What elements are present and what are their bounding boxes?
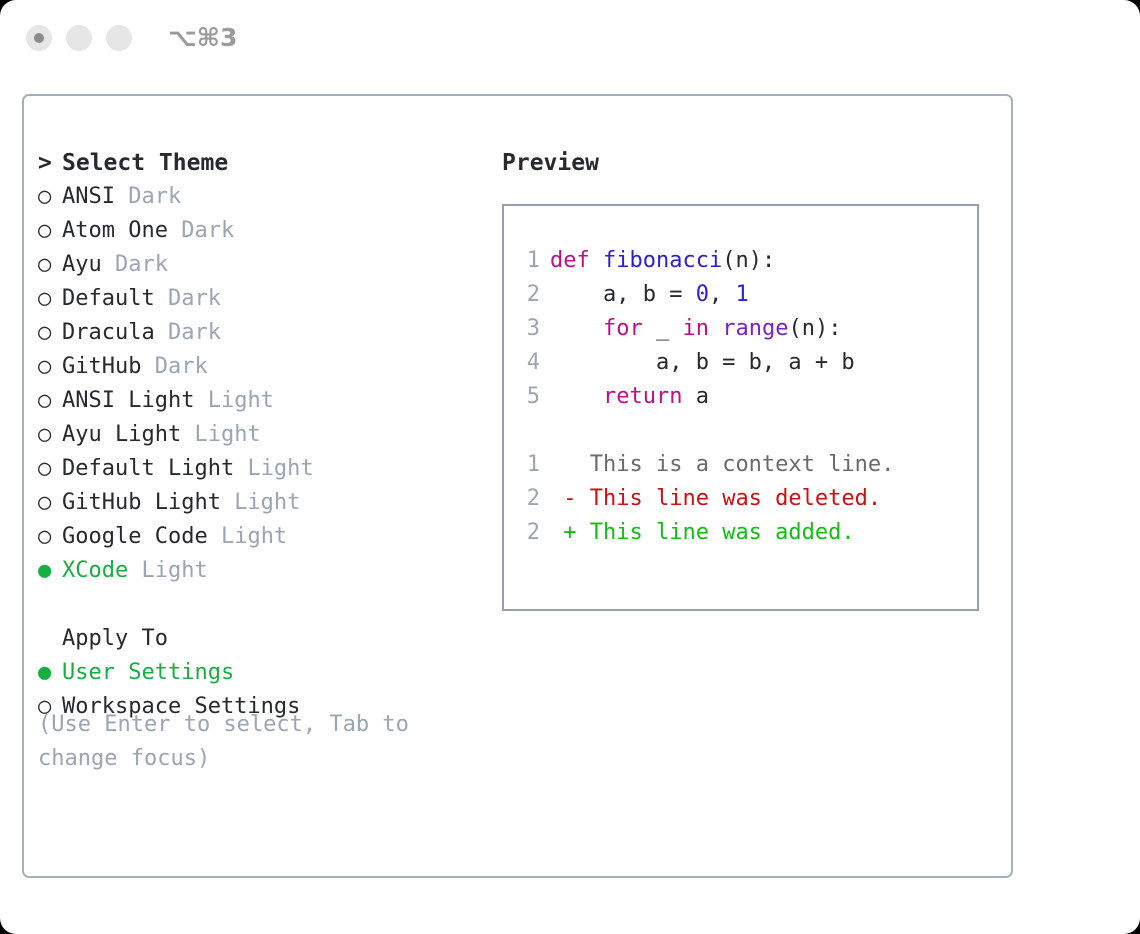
- theme-picker-panel: >Select Theme○ANSI Dark○Atom One Dark○Ay…: [22, 94, 1013, 878]
- code-token: [550, 316, 603, 341]
- theme-list-item[interactable]: ○Google Code Light: [38, 520, 468, 554]
- theme-list-item[interactable]: ○Dracula Dark: [38, 316, 468, 350]
- diff-line-number: 2: [514, 482, 540, 516]
- code-line: 2 a, b = 0, 1: [514, 278, 973, 312]
- diff-line-number: 1: [514, 448, 540, 482]
- radio-unselected-icon[interactable]: ○: [38, 282, 62, 316]
- window-titlebar: ⌥⌘3: [0, 0, 1140, 78]
- radio-unselected-icon[interactable]: ○: [38, 214, 62, 248]
- theme-list-item[interactable]: ○Ayu Dark: [38, 248, 468, 282]
- radio-unselected-icon[interactable]: ○: [38, 418, 62, 452]
- apply-to-option-label: User Settings: [62, 660, 234, 685]
- code-line-number: 3: [514, 312, 540, 346]
- radio-selected-icon[interactable]: ●: [38, 656, 62, 690]
- theme-list-item[interactable]: ○Atom One Dark: [38, 214, 468, 248]
- code-token: fibonacci: [603, 248, 722, 273]
- code-token: a, b =: [550, 282, 696, 307]
- code-line-number: 1: [514, 244, 540, 278]
- theme-list-item[interactable]: ○ANSI Light Light: [38, 384, 468, 418]
- theme-variant-tag: Light: [194, 422, 260, 447]
- diff-text: This is a context line.: [577, 452, 895, 477]
- code-token: ,: [709, 282, 736, 307]
- radio-unselected-icon[interactable]: ○: [38, 520, 62, 554]
- theme-list-item[interactable]: ○GitHub Light Light: [38, 486, 468, 520]
- code-token: in: [682, 316, 709, 341]
- apply-to-header-marker: [38, 622, 62, 656]
- window-dot-2-icon[interactable]: [66, 25, 92, 51]
- theme-variant-tag: Light: [208, 388, 274, 413]
- theme-name-label: Google Code: [62, 524, 221, 549]
- theme-list-header-label: Select Theme: [62, 150, 228, 176]
- diff-marker: +: [550, 520, 577, 545]
- code-token: (n):: [722, 248, 775, 273]
- code-token: range: [722, 316, 788, 341]
- theme-list-item[interactable]: ○Ayu Light Light: [38, 418, 468, 452]
- code-token: [590, 248, 603, 273]
- window-dot-active-inner: [34, 33, 44, 43]
- diff-line: 1 This is a context line.: [514, 448, 973, 482]
- code-token: a: [682, 384, 709, 409]
- theme-name-label: Atom One: [62, 218, 181, 243]
- theme-name-label: GitHub: [62, 354, 155, 379]
- theme-name-label: Default Light: [62, 456, 247, 481]
- diff-marker: -: [550, 486, 577, 511]
- code-token: def: [550, 248, 590, 273]
- diff-text: This line was added.: [577, 520, 855, 545]
- radio-unselected-icon[interactable]: ○: [38, 316, 62, 350]
- theme-variant-tag: Dark: [168, 286, 221, 311]
- theme-name-label: Ayu Light: [62, 422, 194, 447]
- theme-name-label: ANSI Light: [62, 388, 208, 413]
- code-token: for: [603, 316, 643, 341]
- apply-to-option[interactable]: ●User Settings: [38, 656, 468, 690]
- theme-list-item[interactable]: ○GitHub Dark: [38, 350, 468, 384]
- code-line: 3 for _ in range(n):: [514, 312, 973, 346]
- window-dot-active-icon[interactable]: [26, 25, 52, 51]
- radio-unselected-icon[interactable]: ○: [38, 350, 62, 384]
- theme-name-label: Ayu: [62, 252, 115, 277]
- radio-unselected-icon[interactable]: ○: [38, 486, 62, 520]
- theme-variant-tag: Light: [141, 558, 207, 583]
- keyboard-shortcut-label: ⌥⌘3: [168, 23, 237, 52]
- code-token: return: [603, 384, 682, 409]
- code-token: 1: [735, 282, 748, 307]
- theme-variant-tag: Dark: [168, 320, 221, 345]
- code-line-number: 2: [514, 278, 540, 312]
- theme-variant-tag: Light: [234, 490, 300, 515]
- theme-list-item[interactable]: ○Default Dark: [38, 282, 468, 316]
- theme-name-label: Dracula: [62, 320, 168, 345]
- list-spacer: [38, 588, 468, 622]
- radio-unselected-icon[interactable]: ○: [38, 452, 62, 486]
- apply-to-header-label: Apply To: [62, 626, 168, 651]
- radio-unselected-icon[interactable]: ○: [38, 384, 62, 418]
- theme-variant-tag: Dark: [181, 218, 234, 243]
- diff-marker: [550, 452, 577, 477]
- code-token: _: [643, 316, 683, 341]
- theme-variant-tag: Dark: [155, 354, 208, 379]
- theme-list: >Select Theme○ANSI Dark○Atom One Dark○Ay…: [38, 146, 468, 588]
- theme-variant-tag: Dark: [128, 184, 181, 209]
- code-token: [709, 316, 722, 341]
- code-token: a, b = b, a + b: [550, 350, 855, 375]
- preview-title: Preview: [502, 146, 992, 180]
- window-dot-3-icon[interactable]: [106, 25, 132, 51]
- terminal-window: ⌥⌘3 >Select Theme○ANSI Dark○Atom One Dar…: [0, 0, 1140, 934]
- code-line: 1def fibonacci(n):: [514, 244, 973, 278]
- code-token: [550, 384, 603, 409]
- theme-name-label: ANSI: [62, 184, 128, 209]
- diff-line-number: 2: [514, 516, 540, 550]
- diff-text: This line was deleted.: [577, 486, 882, 511]
- theme-variant-tag: Light: [247, 456, 313, 481]
- theme-variant-tag: Light: [221, 524, 287, 549]
- code-line: 5 return a: [514, 380, 973, 414]
- code-line-number: 4: [514, 346, 540, 380]
- diff-line: 2 - This line was deleted.: [514, 482, 973, 516]
- diff-line: 2 + This line was added.: [514, 516, 973, 550]
- code-diff-separator: [514, 414, 973, 448]
- radio-selected-icon[interactable]: ●: [38, 554, 62, 588]
- code-token: 0: [696, 282, 709, 307]
- radio-unselected-icon[interactable]: ○: [38, 180, 62, 214]
- theme-name-label: Default: [62, 286, 168, 311]
- preview-box: 1def fibonacci(n):2 a, b = 0, 13 for _ i…: [502, 204, 979, 611]
- preview-column: Preview 1def fibonacci(n):2 a, b = 0, 13…: [502, 146, 992, 180]
- theme-list-item[interactable]: ○Default Light Light: [38, 452, 468, 486]
- keyboard-hint-text: (Use Enter to select, Tab to change focu…: [38, 708, 448, 776]
- code-line: 4 a, b = b, a + b: [514, 346, 973, 380]
- code-preview-area: 1def fibonacci(n):2 a, b = 0, 13 for _ i…: [514, 244, 973, 550]
- theme-list-item[interactable]: ○ANSI Dark: [38, 180, 468, 214]
- prompt-caret-icon: >: [38, 146, 62, 180]
- radio-unselected-icon[interactable]: ○: [38, 248, 62, 282]
- theme-list-header: >Select Theme: [38, 146, 468, 180]
- code-token: (n):: [788, 316, 841, 341]
- theme-variant-tag: Dark: [115, 252, 168, 277]
- theme-selection-column: >Select Theme○ANSI Dark○Atom One Dark○Ay…: [38, 146, 468, 724]
- theme-list-item[interactable]: ●XCode Light: [38, 554, 468, 588]
- theme-name-label: GitHub Light: [62, 490, 234, 515]
- theme-name-label: XCode: [62, 558, 141, 583]
- code-line-number: 5: [514, 380, 540, 414]
- apply-to-header: Apply To: [38, 622, 468, 656]
